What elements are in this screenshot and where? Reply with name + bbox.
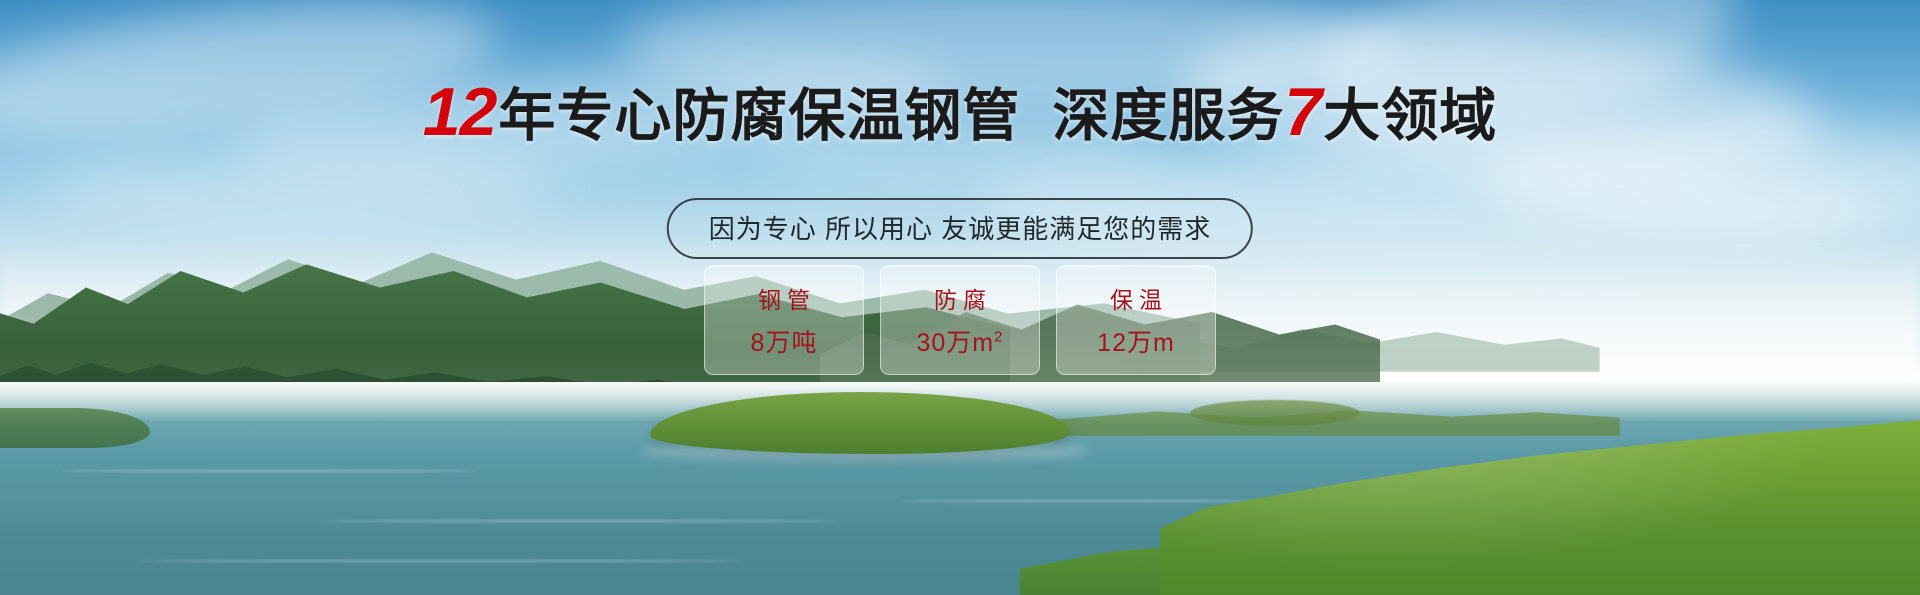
stat-value-main: 12万m: [1097, 329, 1175, 357]
headline: 12年专心防腐保温钢管深度服务7大领域: [0, 78, 1920, 146]
stat-card-value: 8万吨: [751, 323, 818, 359]
stat-value-exponent: 2: [994, 329, 1003, 346]
stat-card-value: 30万m2: [917, 323, 1004, 359]
headline-secondary-text: 深度服务: [1052, 84, 1284, 148]
stats-card-row: 钢管 8万吨 防腐 30万m2 保温 12万m: [704, 265, 1216, 375]
headline-secondary-suffix: 大领域: [1323, 84, 1497, 148]
headline-fields-number: 7: [1284, 74, 1323, 150]
stat-card-insulation[interactable]: 保温 12万m: [1056, 265, 1216, 375]
tagline-pill: 因为专心 所以用心 友诚更能满足您的需求: [667, 198, 1253, 259]
headline-years-number: 12: [423, 74, 499, 150]
stat-value-main: 8万吨: [751, 329, 818, 357]
headline-primary-text: 年专心防腐保温钢管: [498, 84, 1020, 148]
promo-banner: 12年专心防腐保温钢管深度服务7大领域 因为专心 所以用心 友诚更能满足您的需求…: [0, 0, 1920, 595]
stat-card-title: 钢管: [752, 281, 816, 315]
banner-content: 12年专心防腐保温钢管深度服务7大领域 因为专心 所以用心 友诚更能满足您的需求…: [0, 0, 1920, 595]
stat-card-value: 12万m: [1097, 323, 1175, 359]
stat-card-anticorrosion[interactable]: 防腐 30万m2: [880, 265, 1040, 375]
stat-card-steel-pipe[interactable]: 钢管 8万吨: [704, 265, 864, 375]
stat-card-title: 保温: [1104, 281, 1168, 315]
stat-card-title: 防腐: [928, 281, 992, 315]
stat-value-main: 30万m: [917, 329, 995, 357]
